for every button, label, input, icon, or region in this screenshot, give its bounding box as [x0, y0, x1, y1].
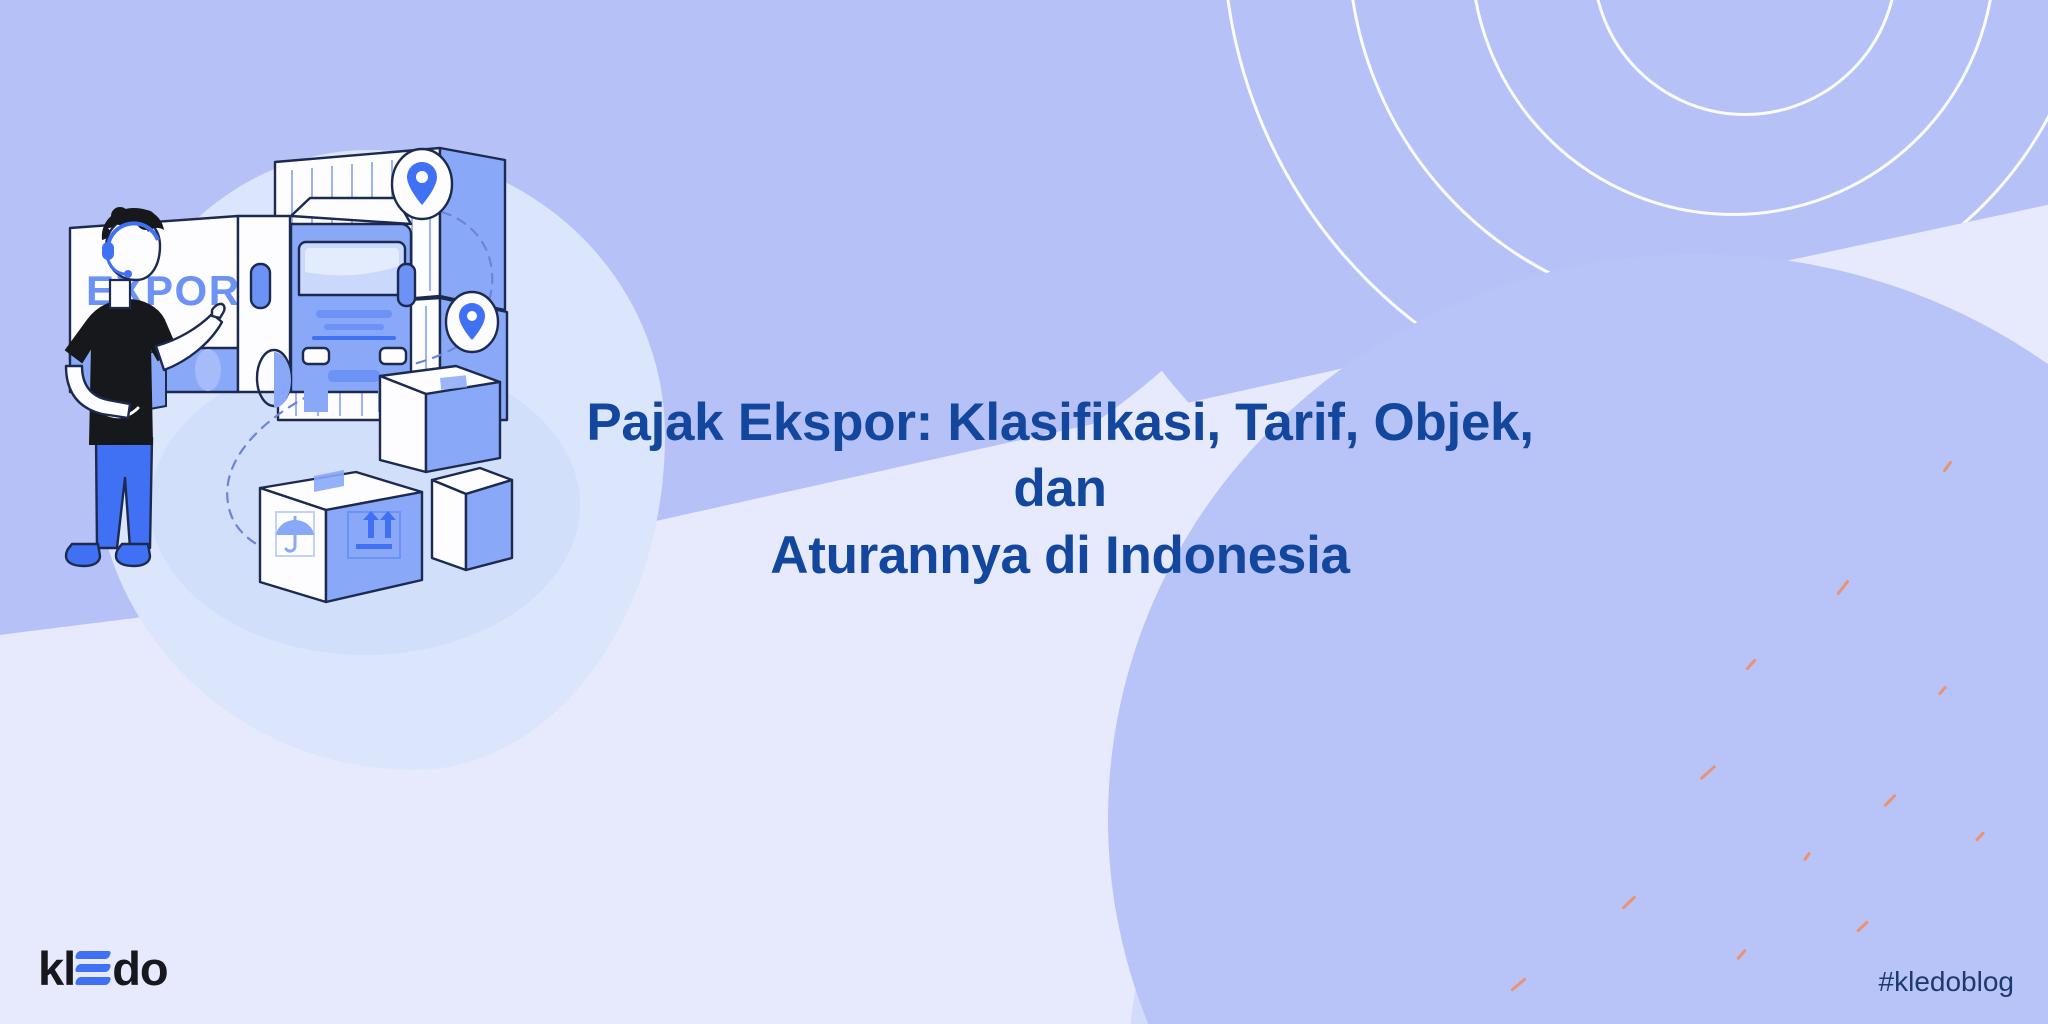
kledo-logo[interactable]: kl do [38, 940, 168, 996]
logo-bar [75, 951, 112, 959]
logo-bar [75, 977, 112, 985]
page-title-line-2: Aturannya di Indonesia [555, 523, 1565, 589]
parcel-box-right [432, 468, 512, 570]
logo-e-bars-icon [76, 948, 110, 988]
banner-title-block: Pajak Ekspor: Klasifikasi, Tarif, Objek,… [555, 390, 1565, 589]
export-illustration: .ol{stroke:#1b2a4e;stroke-width:2.4;stro… [60, 120, 560, 620]
logo-text-right: do [112, 945, 167, 992]
blog-banner: .ol{stroke:#1b2a4e;stroke-width:2.4;stro… [0, 0, 2048, 1024]
parcel-box-main [260, 470, 422, 602]
logo-bar [75, 964, 112, 972]
hashtag-label: #kledoblog [1879, 966, 2014, 998]
page-title-line-1: Pajak Ekspor: Klasifikasi, Tarif, Objek,… [555, 390, 1565, 523]
location-pin-icon [446, 292, 498, 352]
parcel-box-top [380, 366, 500, 472]
logo-text-left: kl [38, 945, 75, 992]
location-pin-icon [392, 149, 452, 219]
